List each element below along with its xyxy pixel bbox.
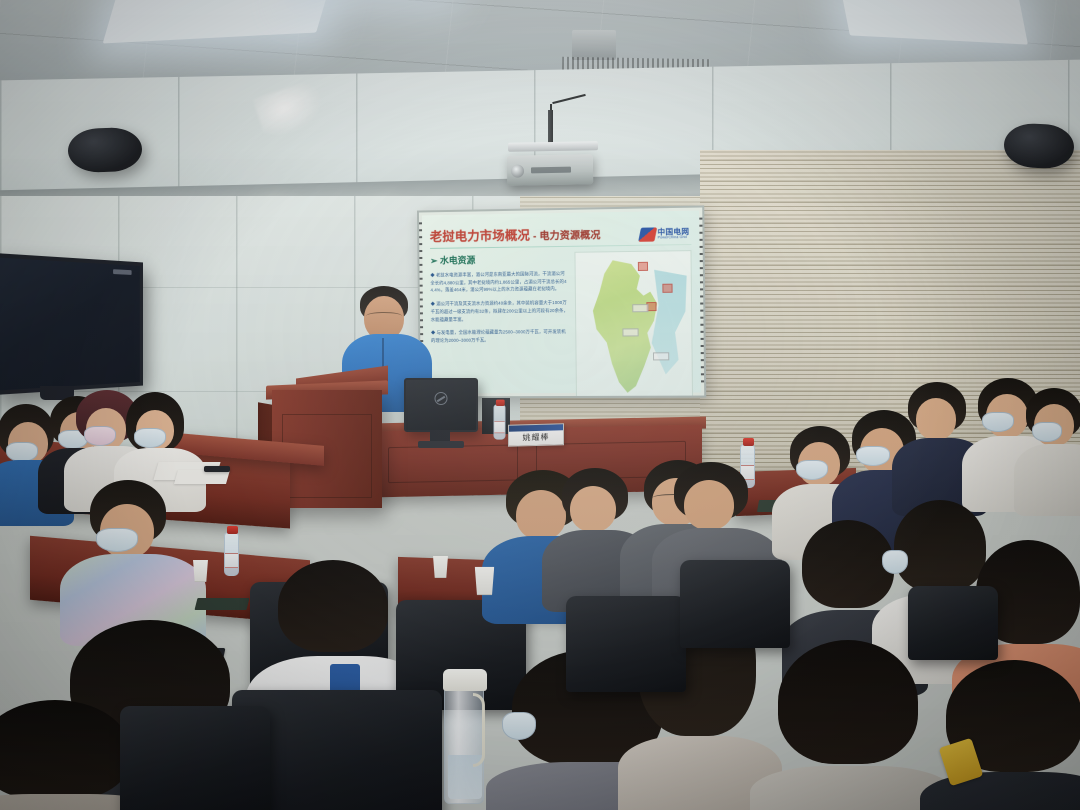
slide-text-column: ➢ 水电资源 ◆ 老挝水电资源丰富，湄公河是东南亚最大的国际河流，干流湄公河全长… [430,252,570,399]
head [570,486,616,532]
face-mask [6,442,38,462]
map-marker-icon [662,284,672,293]
bottle-cap [743,438,754,446]
conference-room-photo: 老挝电力市场概况 - 电力资源概况 中国电网 PowerChina Grid ➢… [0,0,1080,810]
projection-screen: 老挝电力市场概况 - 电力资源概况 中国电网 PowerChina Grid ➢… [417,205,706,398]
glasses-icon [366,312,402,320]
map-marker-icon [638,262,648,271]
slide-body: ➢ 水电资源 ◆ 老挝水电资源丰富，湄公河是东南亚最大的国际河流，干流湄公河全长… [430,250,693,398]
slide-map-image [574,250,693,398]
grid-logo-icon [638,227,657,241]
bottle-cap [227,526,238,534]
projector [507,154,594,185]
slide-title-dash: - [530,231,540,242]
projector-brand-label [531,167,571,174]
slide-title: 老挝电力市场概况 - 电力资源概况 [430,228,601,244]
slide-bullet: ◆ 湄公河干流及其支流水力资源约40余条，其中装机容量大于1000万千瓦的超过一… [431,299,569,323]
ac-housing [572,30,616,60]
display-brand-logo [113,269,132,275]
hair [778,640,918,764]
monitor-base [418,441,464,448]
dell-monitor[interactable] [404,378,478,432]
head [684,480,734,530]
clothing [1014,444,1080,516]
slide-bullet: ◆ 与发电量，全国水能理论蕴藏量为2500–3000万千瓦，可开发装机的理论为2… [431,328,569,344]
wall-mounted-display[interactable] [0,253,143,395]
slide-title-main: 老挝电力市场概况 [430,228,530,243]
paper-cup [473,567,495,596]
map-label-box [622,328,638,336]
water-bottle [494,404,506,439]
dell-logo-icon [435,392,448,405]
audience-member [1020,388,1080,508]
display-screen [0,257,140,390]
notebook [195,598,250,610]
logo-text-en: PowerChina Grid [658,236,690,240]
face-mask [882,550,908,574]
audience-member [74,480,190,640]
pen [204,466,230,472]
bottle-label [494,421,504,433]
paper-cup [432,556,449,578]
face-mask [796,460,828,480]
slide-divider [430,244,691,249]
hair [278,560,388,652]
slide-bullet: ◆ 老挝水电资源丰富，湄公河是东南亚最大的国际河流，干流湄公河全长约4,880公… [430,270,568,295]
tumbler-lid [443,669,487,691]
face-mask [982,412,1014,432]
projector-bracket [508,141,598,152]
map-label-box [653,352,669,360]
face-mask [96,528,138,552]
placard-name-text: 姚耀棒 [509,431,563,443]
face-mask [856,446,890,466]
chair [680,560,790,648]
face-mask [502,712,536,740]
face-mask [134,428,166,448]
chair [566,596,686,692]
bottle-label [225,553,238,568]
tumbler-strap [473,693,485,767]
chair [908,586,998,660]
projector-mount [548,110,553,144]
audience-member [764,640,934,810]
hair [0,700,130,800]
clothing [920,772,1080,810]
face-mask [1032,422,1062,442]
audience-member [930,660,1080,810]
organization-logo: 中国电网 PowerChina Grid [639,227,689,242]
slide-title-sub: 电力资源概况 [539,230,600,242]
logo-text: 中国电网 PowerChina Grid [658,228,690,240]
chair [120,706,270,810]
thermos-tumbler [444,686,484,804]
slide-header: 老挝电力市场概况 - 电力资源概况 中国电网 PowerChina Grid [430,217,692,245]
face-mask [84,426,116,446]
presentation-slide: 老挝电力市场概况 - 电力资源概况 中国电网 PowerChina Grid ➢… [422,211,701,394]
water-bottle [224,532,239,576]
projector-lens-icon [511,164,524,177]
paper-cup [192,560,209,582]
name-placard: 姚耀棒 [508,423,564,446]
slide-section-heading: ➢ 水电资源 [430,252,568,267]
head [916,398,956,440]
bottle-cap [496,400,505,406]
map-label-box [632,304,648,312]
